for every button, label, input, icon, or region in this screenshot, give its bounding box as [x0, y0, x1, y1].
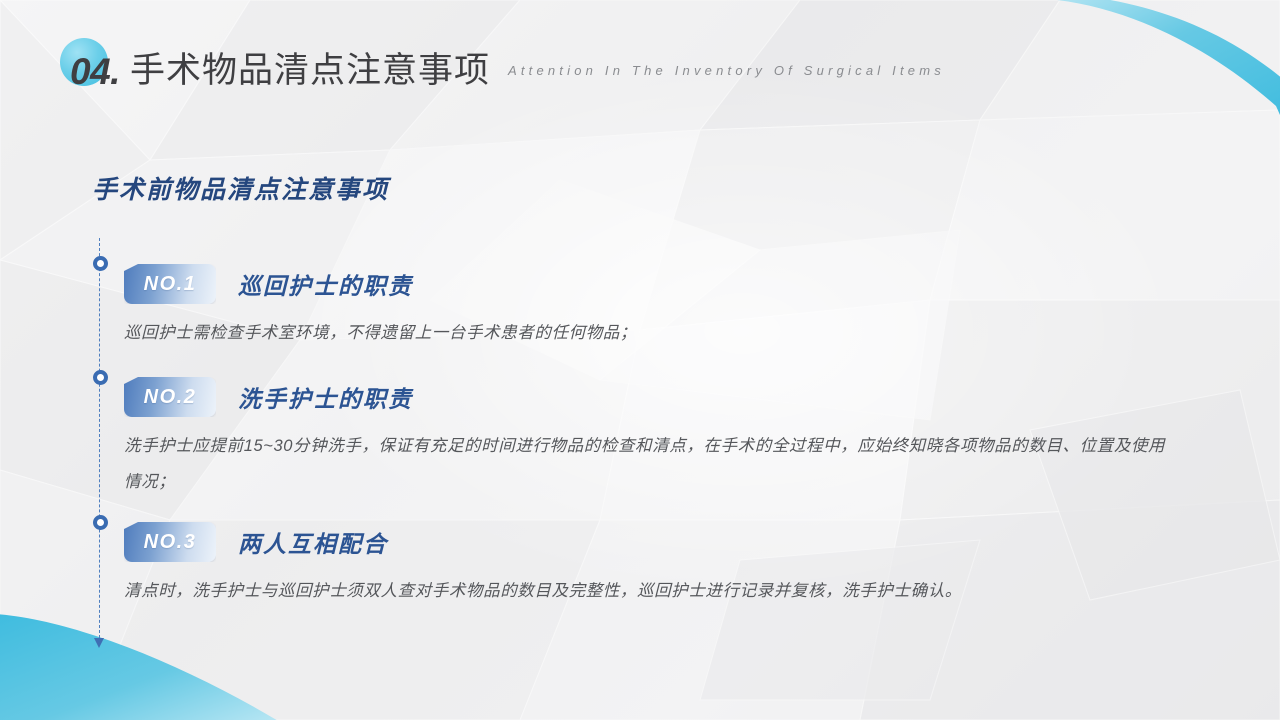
section-number-group: 04. [60, 40, 120, 104]
item-header: NO.3 两人互相配合 [124, 522, 1174, 562]
timeline-dashed-line [99, 238, 100, 638]
item-header: NO.2 洗手护士的职责 [124, 377, 1174, 417]
slide-canvas: 04. 手术物品清点注意事项 Attention In The Inventor… [0, 0, 1280, 720]
list-item: NO.3 两人互相配合 清点时，洗手护士与巡回护士须双人查对手术物品的数目及完整… [124, 522, 1174, 609]
page-subtitle-english: Attention In The Inventory Of Surgical I… [508, 60, 945, 82]
timeline-marker-2 [93, 370, 108, 385]
list-item: NO.1 巡回护士的职责 巡回护士需检查手术室环境，不得遗留上一台手术患者的任何… [124, 264, 1174, 351]
section-number: 04. [70, 41, 120, 103]
item-badge: NO.2 [124, 377, 216, 417]
ribbon-top-right-decoration [1024, 0, 1280, 124]
timeline-rail [93, 238, 107, 646]
item-header: NO.1 巡回护士的职责 [124, 264, 1174, 304]
page-title: 手术物品清点注意事项 [130, 40, 490, 102]
item-title: 洗手护士的职责 [238, 380, 413, 414]
item-body-text: 洗手护士应提前15~30分钟洗手，保证有充足的时间进行物品的检查和清点，在手术的… [124, 428, 1174, 500]
item-body-text: 巡回护士需检查手术室环境，不得遗留上一台手术患者的任何物品； [124, 315, 1174, 351]
item-badge-label: NO.2 [144, 386, 197, 409]
ribbon-bottom-left-decoration [0, 596, 286, 720]
item-title: 两人互相配合 [238, 525, 388, 559]
timeline-arrow-icon [94, 638, 104, 648]
item-badge-label: NO.3 [144, 531, 197, 554]
item-badge: NO.3 [124, 522, 216, 562]
item-badge: NO.1 [124, 264, 216, 304]
item-badge-label: NO.1 [144, 273, 197, 296]
timeline-marker-3 [93, 515, 108, 530]
low-poly-background [0, 0, 1280, 720]
item-title: 巡回护士的职责 [238, 267, 413, 301]
section-heading: 手术前物品清点注意事项 [92, 170, 389, 206]
list-item: NO.2 洗手护士的职责 洗手护士应提前15~30分钟洗手，保证有充足的时间进行… [124, 377, 1174, 500]
timeline-marker-1 [93, 256, 108, 271]
item-body-text: 清点时，洗手护士与巡回护士须双人查对手术物品的数目及完整性，巡回护士进行记录并复… [124, 573, 1174, 609]
slide-header: 04. 手术物品清点注意事项 Attention In The Inventor… [60, 40, 945, 104]
